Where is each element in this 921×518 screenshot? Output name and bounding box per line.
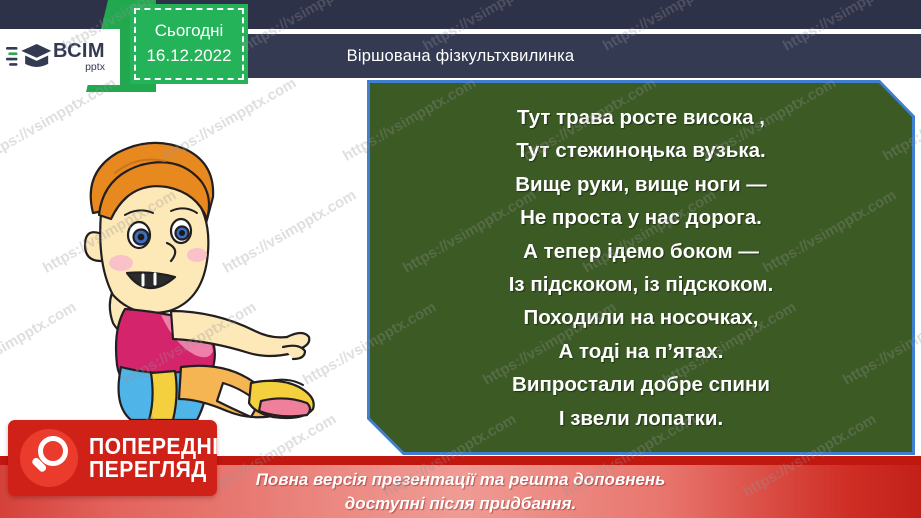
preview-line-1: ПОПЕРЕДНІЙ xyxy=(89,435,234,458)
cartoon-boy-illustration xyxy=(55,115,320,420)
poem-line: Походили на носочках, xyxy=(370,301,912,334)
preview-badge-label: ПОПЕРЕДНІЙ ПЕРЕГЛЯД xyxy=(89,435,247,482)
date-badge: Сьогодні 16.12.2022 xyxy=(130,4,248,84)
poem-line: А тепер ідемо боком — xyxy=(370,235,912,268)
poem-text: Тут трава росте висока , Тут стежиноңька… xyxy=(370,101,912,435)
banner-line-2: доступні після придбання. xyxy=(345,492,576,516)
banner-line-1: Повна версія презентації та решта доповн… xyxy=(256,468,666,492)
poem-line: Випростали добре спини xyxy=(370,368,912,401)
date-badge-value: 16.12.2022 xyxy=(146,44,231,69)
preview-line-2: ПЕРЕГЛЯД xyxy=(89,458,234,481)
poem-line: Із підскоком, із підскоком. xyxy=(370,268,912,301)
page-title: Віршована фізкультхвилинка xyxy=(347,47,575,66)
panel-body: Тут трава росте висока , Тут стежиноңька… xyxy=(370,83,912,452)
poem-line: І звели лопатки. xyxy=(370,402,912,435)
poem-line: Тут стежиноңька вузька. xyxy=(370,134,912,167)
brand-logo[interactable]: ВСІМ pptx xyxy=(0,29,120,85)
preview-badge[interactable]: ПОПЕРЕДНІЙ ПЕРЕГЛЯД xyxy=(8,420,217,496)
content-panel: Тут трава росте висока , Тут стежиноңька… xyxy=(367,80,915,455)
date-badge-label: Сьогодні xyxy=(155,19,224,44)
presentation-slide: Віршована фізкультхвилинка ВСІМ pptx Сьо… xyxy=(0,0,921,518)
logo-sub-text: pptx xyxy=(53,62,105,73)
graduation-cap-icon xyxy=(6,40,52,74)
poem-line: Вище руки, вище ноги — xyxy=(370,168,912,201)
poem-line: А тоді на п’ятах. xyxy=(370,335,912,368)
poem-line: Тут трава росте висока , xyxy=(370,101,912,134)
logo-main-text: ВСІМ xyxy=(53,41,105,61)
logo-wordmark: ВСІМ pptx xyxy=(53,41,105,73)
magnifier-icon xyxy=(20,429,78,487)
poem-line: Не проста у нас дорога. xyxy=(370,201,912,234)
